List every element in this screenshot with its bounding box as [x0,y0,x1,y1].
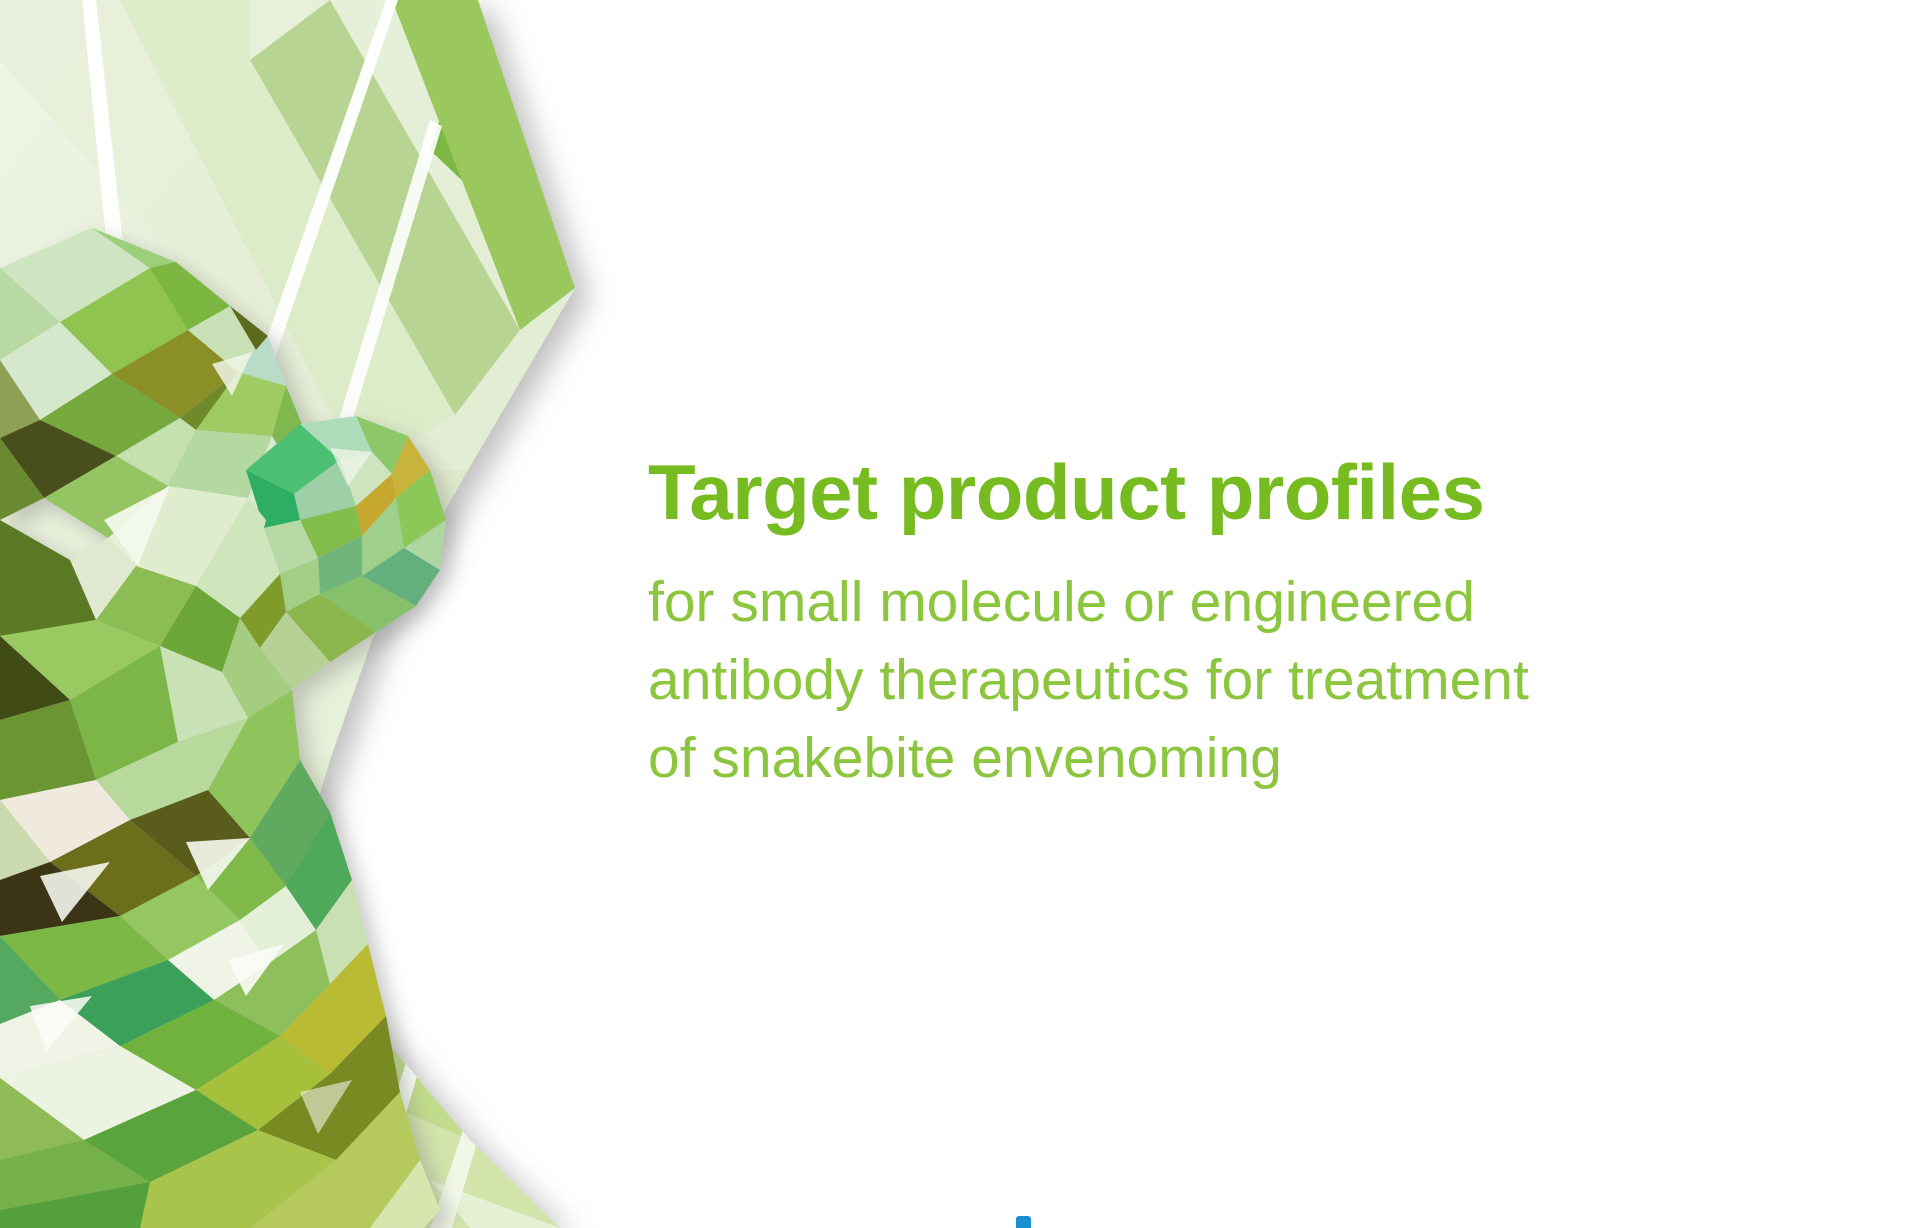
document-cover-page: Target product profiles for small molecu… [0,0,1920,1228]
who-logo-fragment-icon [1016,1216,1031,1228]
green-facet-panel [0,0,575,1228]
subtitle-line-2: antibody therapeutics for treatment [648,641,1828,719]
subtitle-line-3: of snakebite envenoming [648,719,1828,797]
page-title: Target product profiles [648,452,1828,533]
page-subtitle: for small molecule or engineered antibod… [648,533,1828,797]
panel-facets [0,0,620,1228]
low-poly-snake-illustration [0,228,448,1228]
cover-text-block: Target product profiles for small molecu… [648,452,1828,797]
panel-inner-shading [300,400,620,1228]
subtitle-line-1: for small molecule or engineered [648,563,1828,641]
